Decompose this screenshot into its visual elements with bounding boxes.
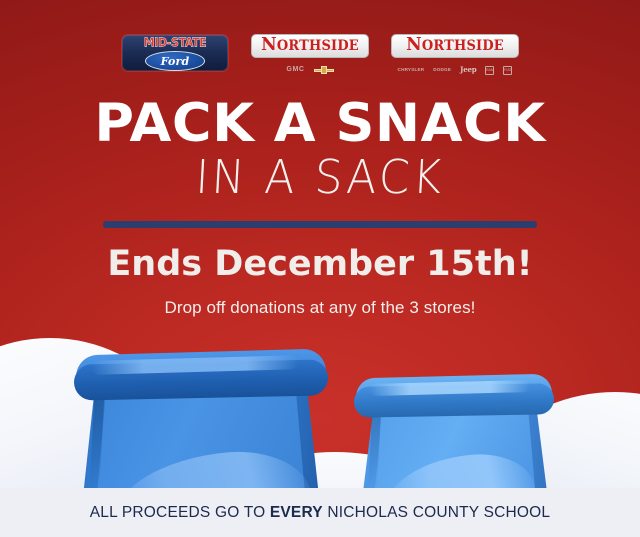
northside-plate: NORTHSIDE bbox=[251, 34, 369, 58]
northside-wordmark: NORTHSIDE bbox=[406, 38, 504, 55]
ram-brand-mark: RAM bbox=[485, 66, 494, 75]
fiat-brand-mark: FIAT bbox=[503, 66, 512, 75]
northside-rest: ORTHSIDE bbox=[422, 39, 504, 55]
mid-state-ford-badge: MID-STATE Ford bbox=[121, 34, 229, 72]
divider-rule bbox=[103, 221, 537, 228]
banner-message: ALL PROCEEDS GO TO EVERY NICHOLAS COUNTY… bbox=[90, 504, 550, 522]
ford-script-label: Ford bbox=[161, 56, 190, 67]
mid-state-wordmark: MID-STATE bbox=[144, 36, 207, 50]
northside-plate: NORTHSIDE bbox=[391, 34, 519, 58]
chrysler-brand-mark: CHRYSLER bbox=[398, 66, 425, 74]
promo-poster: MID-STATE Ford NORTHSIDE GMC NORTHSIDE C… bbox=[0, 0, 640, 537]
logo-mid-state-ford: MID-STATE Ford bbox=[121, 34, 229, 90]
headline-primary: PACK A SNACK bbox=[0, 96, 640, 152]
northside-initial: N bbox=[261, 34, 277, 55]
chevrolet-bowtie-icon bbox=[314, 66, 334, 74]
banner-prefix: ALL PROCEEDS GO TO bbox=[90, 504, 270, 521]
bottom-banner: ALL PROCEEDS GO TO EVERY NICHOLAS COUNTY… bbox=[0, 488, 640, 537]
dodge-brand-mark: DODGE bbox=[433, 66, 451, 74]
headline-secondary: IN A SACK bbox=[0, 150, 640, 205]
jeep-brand-mark: Jeep bbox=[460, 66, 476, 74]
logo-northside-gmc-chevrolet: NORTHSIDE GMC bbox=[251, 34, 369, 76]
deadline-text: Ends December 15th! bbox=[0, 243, 640, 285]
sponsor-logo-strip: MID-STATE Ford NORTHSIDE GMC NORTHSIDE C… bbox=[0, 34, 640, 90]
banner-emphasis: EVERY bbox=[270, 504, 323, 521]
brand-row-cdjrf: CHRYSLER DODGE Jeep RAM FIAT bbox=[398, 64, 513, 76]
brand-row-gmc-chevrolet: GMC bbox=[286, 64, 333, 76]
northside-wordmark: NORTHSIDE bbox=[261, 38, 359, 55]
dropoff-instructions: Drop off donations at any of the 3 store… bbox=[0, 297, 640, 319]
logo-northside-cdjr: NORTHSIDE CHRYSLER DODGE Jeep RAM FIAT bbox=[391, 34, 519, 76]
northside-rest: ORTHSIDE bbox=[277, 39, 359, 55]
banner-suffix: NICHOLAS COUNTY SCHOOL bbox=[323, 504, 550, 521]
northside-initial: N bbox=[406, 34, 422, 55]
ford-oval-icon: Ford bbox=[145, 51, 205, 71]
gmc-brand-mark: GMC bbox=[286, 66, 304, 74]
grocery-bag-small bbox=[352, 372, 558, 500]
grocery-bag-large bbox=[70, 346, 332, 506]
